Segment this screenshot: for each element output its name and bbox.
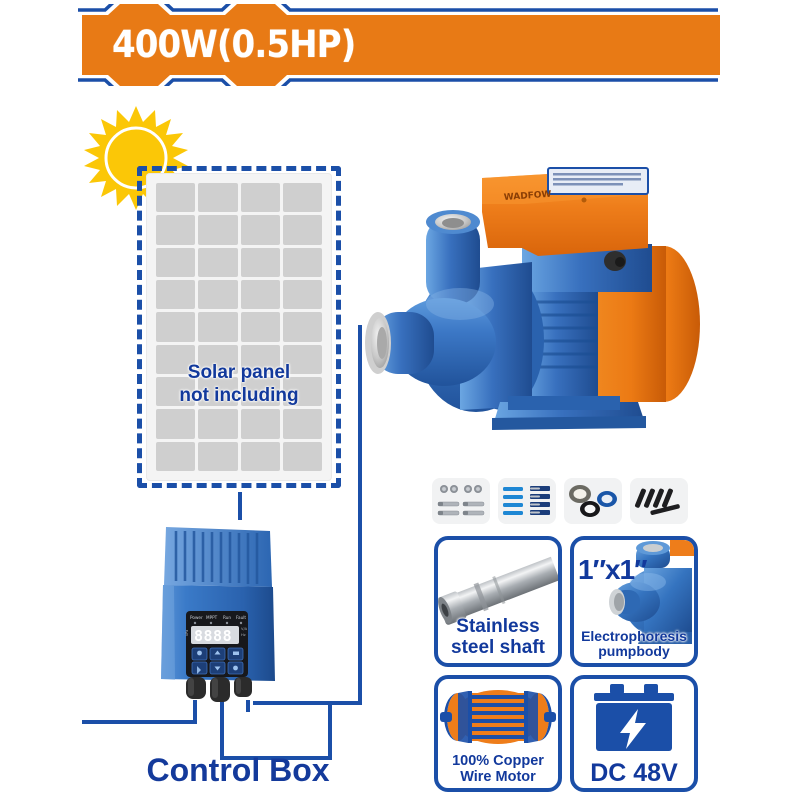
feature-caption-electrophoresis-pumpbody: Electrophoresis pumpbody xyxy=(574,629,694,659)
pumpbody-size-badge: 1″x1″ xyxy=(578,554,647,586)
control-box-label: Control Box xyxy=(98,752,378,789)
caption-line1: 100% Copper xyxy=(438,753,558,769)
rubber-rods-kit xyxy=(630,478,688,524)
product-infographic: 400W(0.5HP) xyxy=(0,0,800,800)
screws-washers-kit xyxy=(432,478,490,524)
control-box-illustration: Power MPPT Run Fault 8888 V/A Hz kPa xyxy=(158,523,280,713)
accessory-strip xyxy=(432,478,688,524)
banner-title: 400W(0.5HP) xyxy=(112,23,355,66)
solar-panel-group: Solar panel not including xyxy=(137,166,341,488)
banner-shape xyxy=(0,4,726,86)
feature-card-stainless-steel-shaft: Stainless steel shaft xyxy=(434,536,562,667)
control-box-display: 8888 xyxy=(194,627,232,645)
cable-ties-kit xyxy=(498,478,556,524)
feature-caption-copper-wire-motor: 100% Copper Wire Motor xyxy=(438,753,558,785)
caption-line2: pumpbody xyxy=(574,644,694,659)
header-banner: 400W(0.5HP) xyxy=(0,4,726,86)
caption-line1: Stainless xyxy=(438,616,558,637)
svg-text:Hz: Hz xyxy=(241,633,246,637)
svg-text:MPPT: MPPT xyxy=(206,615,218,620)
solar-panel-dashed-outline xyxy=(137,166,341,488)
caption-line2: Wire Motor xyxy=(438,769,558,785)
svg-text:Power: Power xyxy=(190,615,203,620)
solar-note-line1: Solar panel xyxy=(137,361,341,384)
svg-text:V/A: V/A xyxy=(241,627,248,631)
svg-text:Fault: Fault xyxy=(236,615,246,620)
feature-caption-dc-voltage: DC 48V xyxy=(574,760,694,786)
seals-orings-kit xyxy=(564,478,622,524)
caption-line1: Electrophoresis xyxy=(574,629,694,644)
caption-line1: DC 48V xyxy=(574,760,694,786)
feature-card-copper-wire-motor: 100% Copper Wire Motor xyxy=(434,675,562,792)
water-pump-illustration: WADFOW xyxy=(352,152,724,430)
feature-caption-stainless-steel-shaft: Stainless steel shaft xyxy=(438,616,558,658)
caption-line2: steel shaft xyxy=(438,637,558,658)
svg-text:Run: Run xyxy=(223,615,231,620)
solar-note-line2: not including xyxy=(137,384,341,407)
svg-text:kPa: kPa xyxy=(185,630,189,636)
solar-panel-note: Solar panel not including xyxy=(137,361,341,407)
feature-card-electrophoresis-pumpbody: 1″x1″ Electrophoresis pumpbody xyxy=(570,536,698,667)
feature-card-dc-voltage: DC 48V xyxy=(570,675,698,792)
